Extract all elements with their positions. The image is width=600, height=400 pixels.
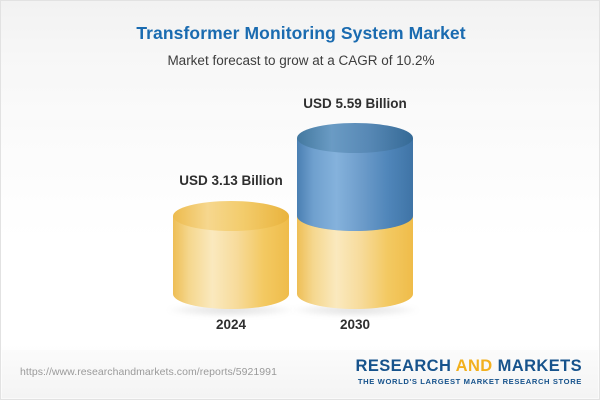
logo-text-research: RESEARCH xyxy=(356,357,452,375)
bar-group-2030: USD 5.59 Billion xyxy=(289,1,421,349)
footer-bar: https://www.researchandmarkets.com/repor… xyxy=(2,350,598,398)
chart-plot-area: USD 3.13 Billion xyxy=(1,1,600,349)
value-label-2024: USD 3.13 Billion xyxy=(179,173,283,188)
logo-tagline: THE WORLD'S LARGEST MARKET RESEARCH STOR… xyxy=(356,377,583,386)
bar-group-2024: USD 3.13 Billion xyxy=(165,1,297,349)
logo-wordmark: RESEARCH AND MARKETS xyxy=(356,358,583,375)
category-label-2030: 2030 xyxy=(340,317,370,332)
logo-text-markets: MARKETS xyxy=(498,357,582,375)
infographic-card: Transformer Monitoring System Market Mar… xyxy=(0,0,600,400)
cylinder-2030 xyxy=(297,123,413,309)
report-url[interactable]: https://www.researchandmarkets.com/repor… xyxy=(20,366,277,378)
logo-text-and: AND xyxy=(456,357,493,375)
research-and-markets-logo[interactable]: RESEARCH AND MARKETS THE WORLD'S LARGEST… xyxy=(356,358,583,386)
value-label-2030: USD 5.59 Billion xyxy=(303,96,407,111)
cylinder-2024 xyxy=(173,201,289,309)
cylinder-2024-svg xyxy=(173,201,289,309)
cylinder-2030-svg xyxy=(297,123,413,309)
category-label-2024: 2024 xyxy=(216,317,246,332)
